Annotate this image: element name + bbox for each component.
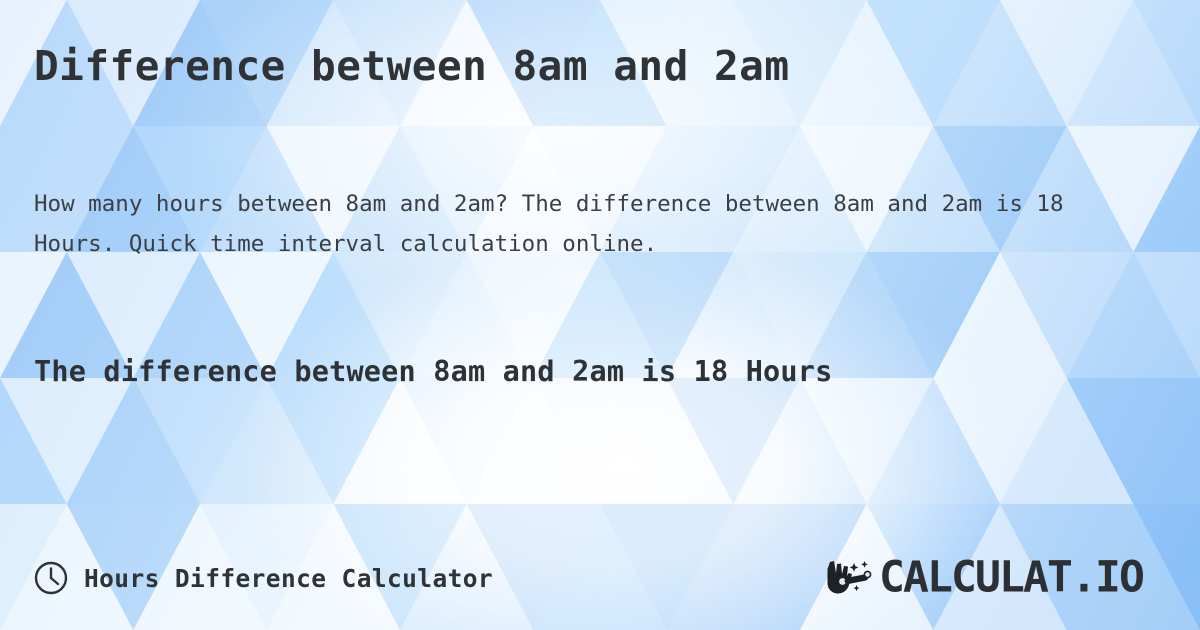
- site-logo-wordmark: CALCULAT.IO: [879, 556, 1143, 600]
- site-logo[interactable]: CALCULAT.IO: [823, 556, 1166, 600]
- footer-tool-label: Hours Difference Calculator: [84, 564, 493, 593]
- footer-tool-brand: Hours Difference Calculator: [34, 561, 493, 595]
- page-title: Difference between 8am and 2am: [34, 44, 1166, 90]
- answer-statement: The difference between 8am and 2am is 18…: [34, 355, 1174, 389]
- site-logo-text: CALCULAT.IO: [879, 556, 1166, 600]
- content-area: Difference between 8am and 2am How many …: [0, 0, 1200, 630]
- share-card: Difference between 8am and 2am How many …: [0, 0, 1200, 630]
- intro-paragraph: How many hours between 8am and 2am? The …: [34, 184, 1144, 264]
- footer: Hours Difference Calculator: [34, 552, 1172, 604]
- magic-wand-hand-icon: [823, 556, 877, 600]
- clock-icon: [34, 561, 68, 595]
